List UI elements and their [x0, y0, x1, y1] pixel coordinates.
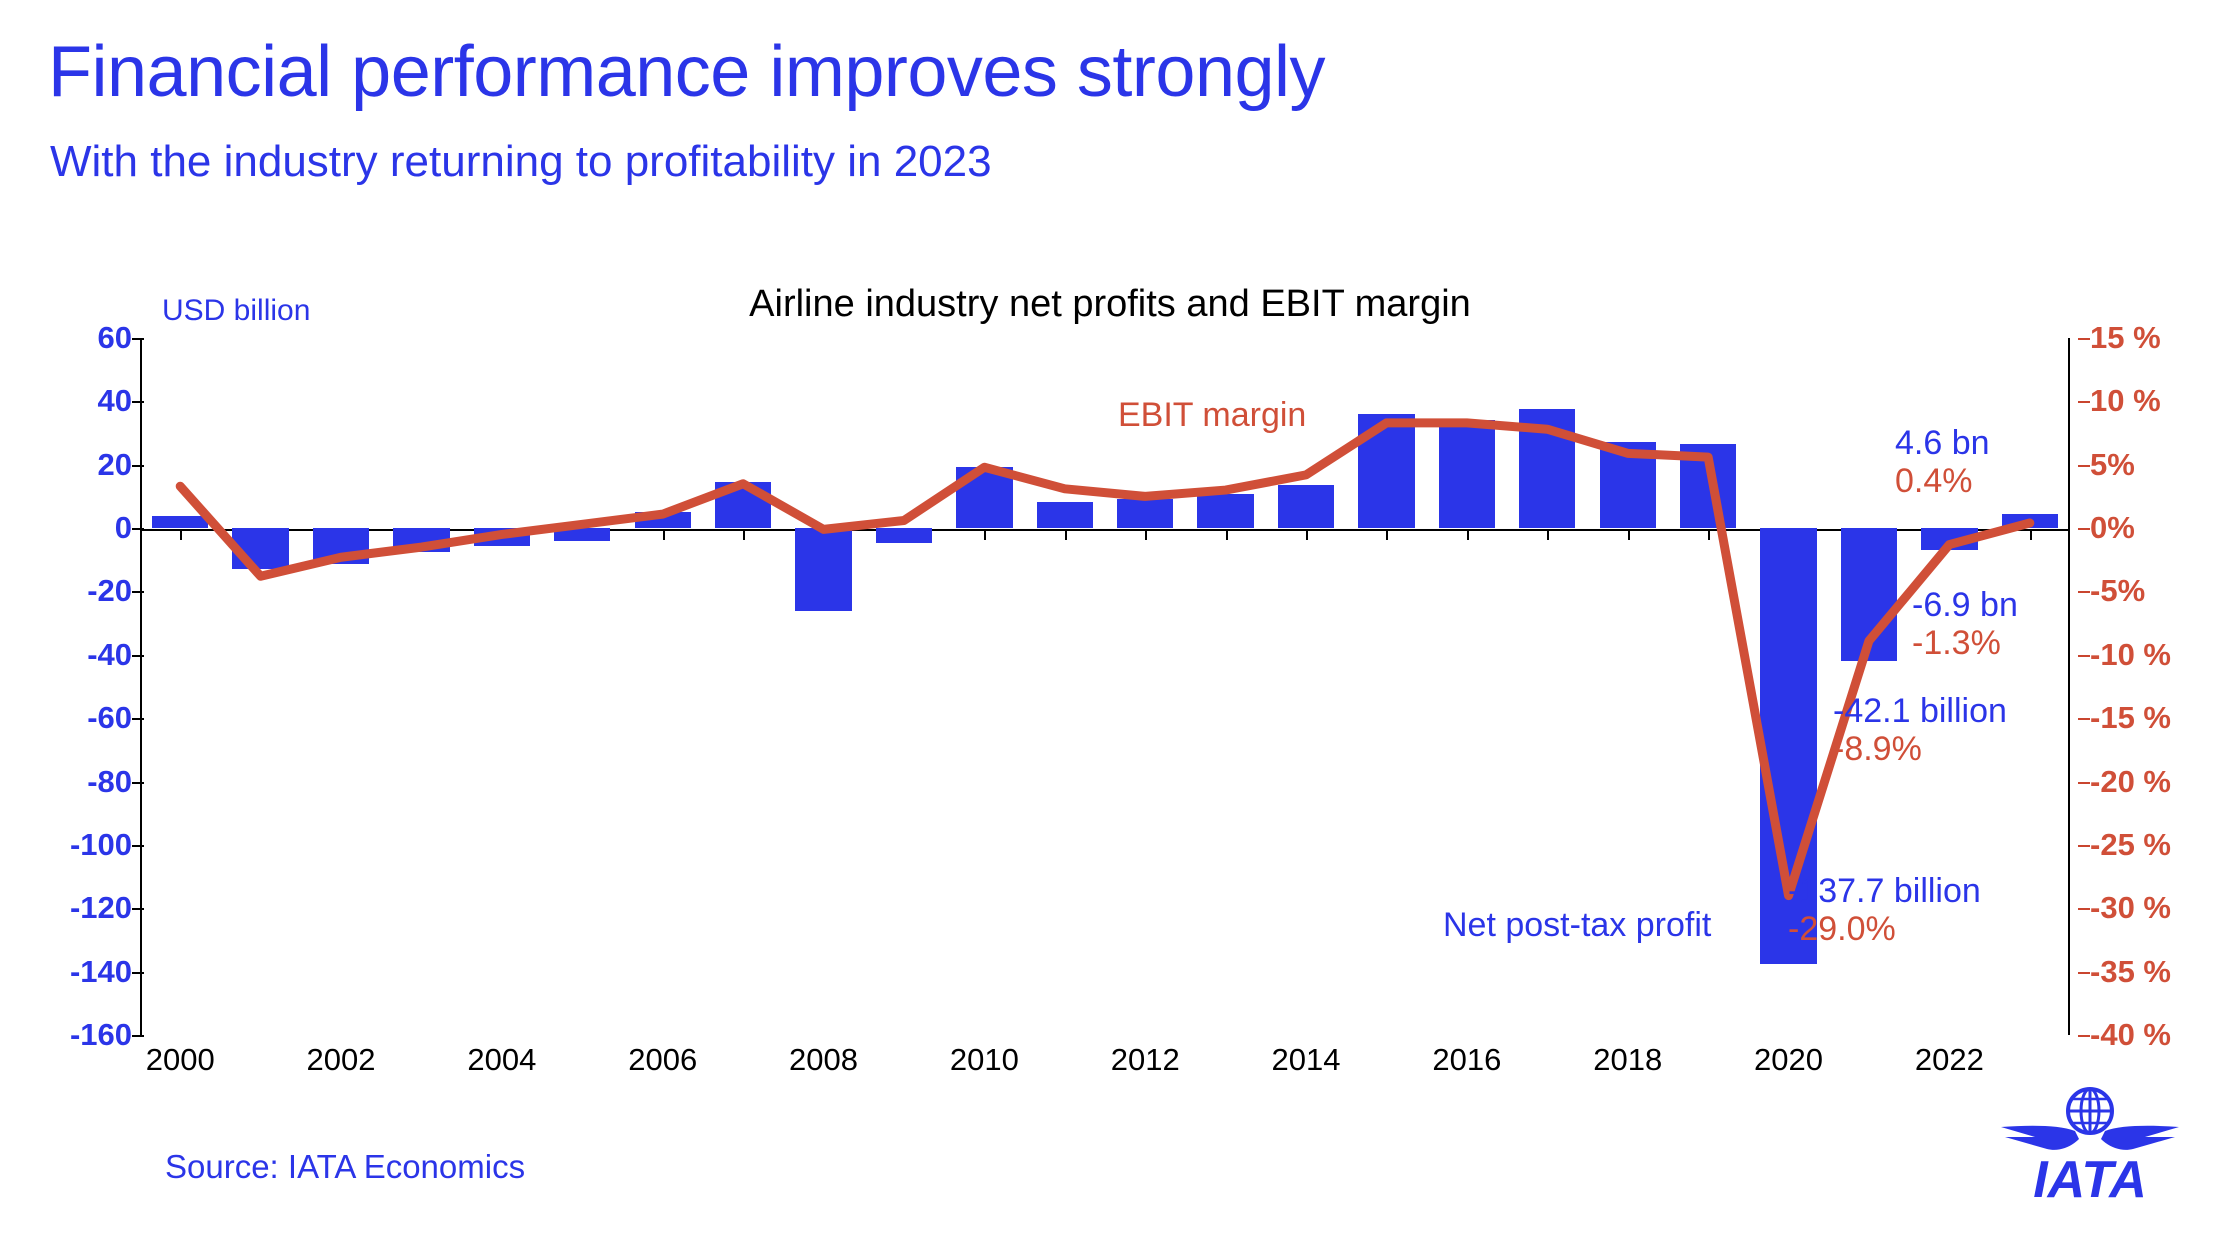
right-axis-tick-mark	[2078, 591, 2090, 593]
right-axis-tick-mark	[2078, 972, 2090, 974]
left-axis-tick-label: -160	[70, 1017, 132, 1053]
legend-label-net-post-tax-profit: Net post-tax profit	[1443, 906, 1711, 945]
right-axis-tick-mark	[2078, 465, 2090, 467]
right-axis-tick-mark	[2078, 908, 2090, 910]
source-note: Source: IATA Economics	[165, 1148, 525, 1186]
legend-label-ebit-margin: EBIT margin	[1118, 396, 1306, 435]
chart-container: Airline industry net profits and EBIT ma…	[0, 0, 2230, 1246]
x-axis-tick-label: 2014	[1272, 1042, 1341, 1078]
annotation-2022-percent: -1.3%	[1912, 624, 2018, 662]
left-axis-tick-label: -120	[70, 890, 132, 926]
annotation-2021-value: -42.1 billion	[1833, 692, 2007, 730]
right-axis-tick-label: -10 %	[2090, 637, 2171, 673]
x-axis-tick-label: 2018	[1593, 1042, 1662, 1078]
annotation-2021-percent: -8.9%	[1833, 730, 2007, 768]
x-axis-tick-label: 2020	[1754, 1042, 1823, 1078]
left-axis: 6040200-20-40-60-80-100-120-140-160	[40, 338, 132, 1035]
right-axis-tick-label: -15 %	[2090, 700, 2171, 736]
annotation-2023-value: 4.6 bn	[1895, 424, 1990, 462]
right-axis-tick-label: 5%	[2090, 447, 2135, 483]
left-axis-tick-mark	[132, 1035, 144, 1037]
iata-logo: IATA	[1995, 1085, 2185, 1220]
right-axis-tick-label: 15 %	[2090, 320, 2161, 356]
x-axis-tick-label: 2002	[307, 1042, 376, 1078]
x-axis-tick-label: 2008	[789, 1042, 858, 1078]
annotation-2023: 4.6 bn 0.4%	[1895, 424, 1990, 500]
right-axis-tick-mark	[2078, 401, 2090, 403]
annotation-2020-percent: -29.0%	[1788, 910, 1981, 948]
right-axis-tick-mark	[2078, 655, 2090, 657]
right-axis-tick-mark	[2078, 718, 2090, 720]
annotation-2022: -6.9 bn -1.3%	[1912, 586, 2018, 662]
chart-title: Airline industry net profits and EBIT ma…	[700, 283, 1520, 326]
right-axis-tick-label: -35 %	[2090, 954, 2171, 990]
left-axis-tick-label: 60	[98, 320, 132, 356]
right-axis-tick-label: -5%	[2090, 573, 2145, 609]
x-axis-tick-label: 2000	[146, 1042, 215, 1078]
left-axis-tick-label: -100	[70, 827, 132, 863]
annotation-2020: -137.7 billion -29.0%	[1788, 872, 1981, 948]
left-axis-tick-label: -40	[87, 637, 132, 673]
right-axis: 15 %10 %5%0%-5%-10 %-15 %-20 %-25 %-30 %…	[2090, 338, 2220, 1035]
right-axis-tick-label: -25 %	[2090, 827, 2171, 863]
right-axis-tick-mark	[2078, 782, 2090, 784]
left-axis-tick-label: -140	[70, 954, 132, 990]
left-axis-tick-label: 40	[98, 383, 132, 419]
right-axis-tick-label: 10 %	[2090, 383, 2161, 419]
annotation-2021: -42.1 billion -8.9%	[1833, 692, 2007, 768]
line-series-ebit-margin	[140, 338, 2070, 1035]
right-axis-tick-mark	[2078, 338, 2090, 340]
left-axis-tick-label: -60	[87, 700, 132, 736]
annotation-2023-percent: 0.4%	[1895, 462, 1990, 500]
right-axis-tick-mark	[2078, 528, 2090, 530]
x-axis-tick-label: 2004	[467, 1042, 536, 1078]
left-axis-tick-label: -80	[87, 764, 132, 800]
annotation-2020-value: -137.7 billion	[1788, 872, 1981, 910]
right-axis-tick-mark	[2078, 1035, 2090, 1037]
slide-root: Financial performance improves strongly …	[0, 0, 2230, 1246]
x-axis-tick-label: 2022	[1915, 1042, 1984, 1078]
right-axis-tick-mark	[2078, 845, 2090, 847]
right-axis-tick-label: -30 %	[2090, 890, 2171, 926]
x-axis-tick-label: 2012	[1111, 1042, 1180, 1078]
annotation-2022-value: -6.9 bn	[1912, 586, 2018, 624]
right-axis-tick-label: -20 %	[2090, 764, 2171, 800]
left-axis-tick-label: 0	[115, 510, 132, 546]
x-axis-tick-label: 2016	[1432, 1042, 1501, 1078]
right-axis-tick-label: 0%	[2090, 510, 2135, 546]
svg-text:IATA: IATA	[2033, 1151, 2147, 1209]
left-axis-unit-label: USD billion	[162, 294, 310, 328]
x-axis-tick-label: 2010	[950, 1042, 1019, 1078]
left-axis-tick-label: 20	[98, 447, 132, 483]
right-axis-tick-label: -40 %	[2090, 1017, 2171, 1053]
x-axis-tick-label: 2006	[628, 1042, 697, 1078]
left-axis-tick-label: -20	[87, 573, 132, 609]
